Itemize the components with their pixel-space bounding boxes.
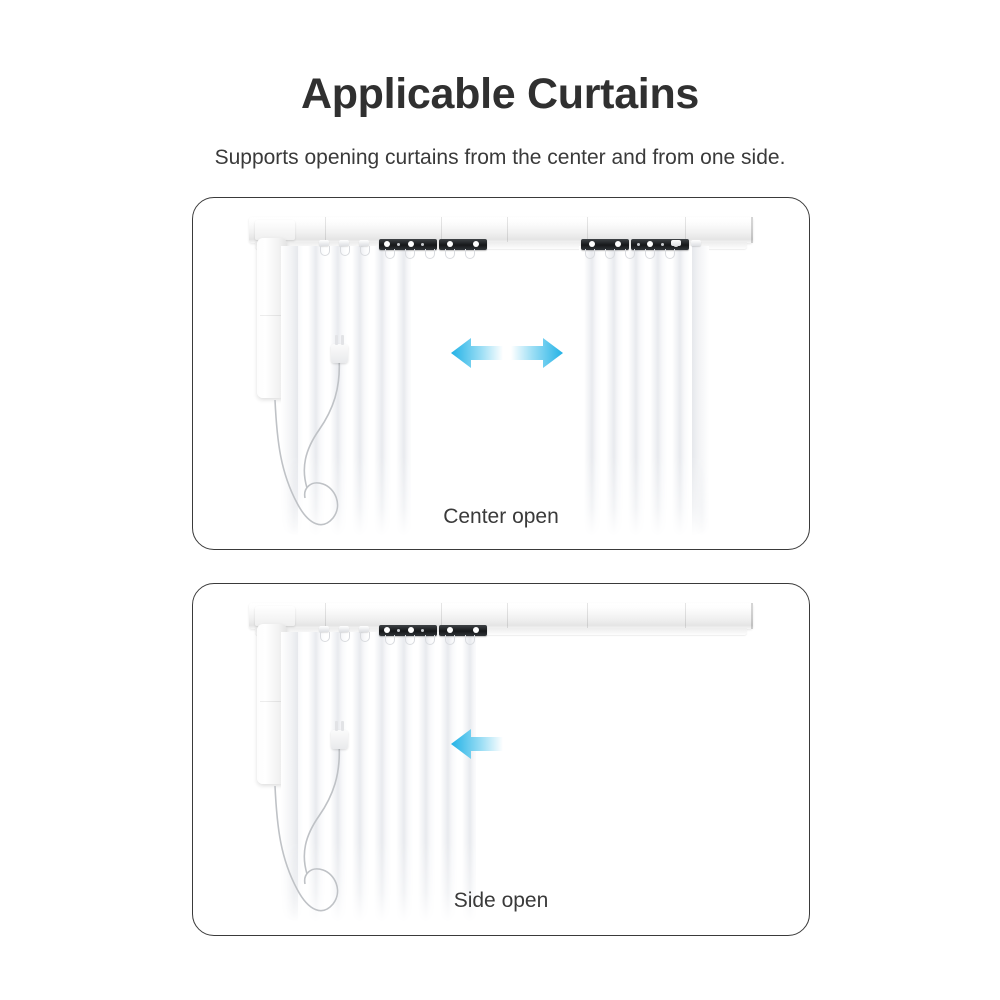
curtain-hook-ring [465,249,475,259]
carrier-dot [661,243,664,246]
curtain-hook-ring [645,249,655,259]
carrier-dot [408,241,414,247]
plug-prong [341,721,344,731]
rail-end-cap [751,603,753,629]
carrier-dot [647,241,653,247]
carrier-dot [384,241,390,247]
motor-head [255,220,295,240]
carrier-dot [447,627,453,633]
curtain-hook-ring [665,249,675,259]
curtain-hook-ring [340,246,350,256]
curtain-hook-ring [425,635,435,645]
carrier-dot [473,627,479,633]
curtain-hook-ring [340,632,350,642]
arrow-left-icon [451,336,503,370]
page-root: Applicable Curtains Supports opening cur… [0,0,1000,1000]
plug-prong [335,335,338,345]
curtain-hook-ring [385,635,395,645]
carrier-dot [408,627,414,633]
carrier-dot [447,241,453,247]
carrier-dot [637,243,640,246]
carrier-dot [397,629,400,632]
curtain-hook-ring [360,246,370,256]
arrow-right-icon [511,336,563,370]
power-plug [331,730,348,749]
scene-side-open [193,584,809,935]
power-plug [331,344,348,363]
curtain-hook-ring [585,249,595,259]
curtain-hook-ring [445,635,455,645]
curtain-hook-ring [465,635,475,645]
curtain-hook-ring [405,635,415,645]
curtain-hook-ring [320,246,330,256]
carrier-dot [589,241,595,247]
carrier-dot [421,629,424,632]
rail-seam [685,603,686,629]
motor-head [255,606,295,626]
carrier-dot [421,243,424,246]
curtain-hook-ring [385,249,395,259]
caption-center-open: Center open [193,503,809,531]
curtain-hook-ring [320,632,330,642]
carrier-dot [397,243,400,246]
right-curtain-leading-edge [692,246,709,536]
plug-prong [335,721,338,731]
curtain-hook-ring [405,249,415,259]
rail-seam [507,217,508,243]
plug-prong [341,335,344,345]
curtain-hook-ring [625,249,635,259]
rail-seam [507,603,508,629]
panel-side-open: Side open [192,583,810,936]
scene-center-open [193,198,809,549]
curtain-hook-ring [425,249,435,259]
caption-side-open: Side open [193,887,809,915]
page-subtitle: Supports opening curtains from the cente… [0,143,1000,173]
rail-seam [587,603,588,629]
curtain-hook-ring [445,249,455,259]
page-title: Applicable Curtains [0,68,1000,120]
curtain-hook-ring [605,249,615,259]
carrier-dot [473,241,479,247]
panel-center-open: Center open [192,197,810,550]
hook-top [691,240,701,246]
curtain-hook-ring [360,632,370,642]
arrow-left-icon [451,727,503,761]
right-curtain-panel [579,246,709,536]
carrier-dot [615,241,621,247]
rail-end-cap [751,217,753,243]
carrier-dot [384,627,390,633]
hook-top [671,240,681,246]
